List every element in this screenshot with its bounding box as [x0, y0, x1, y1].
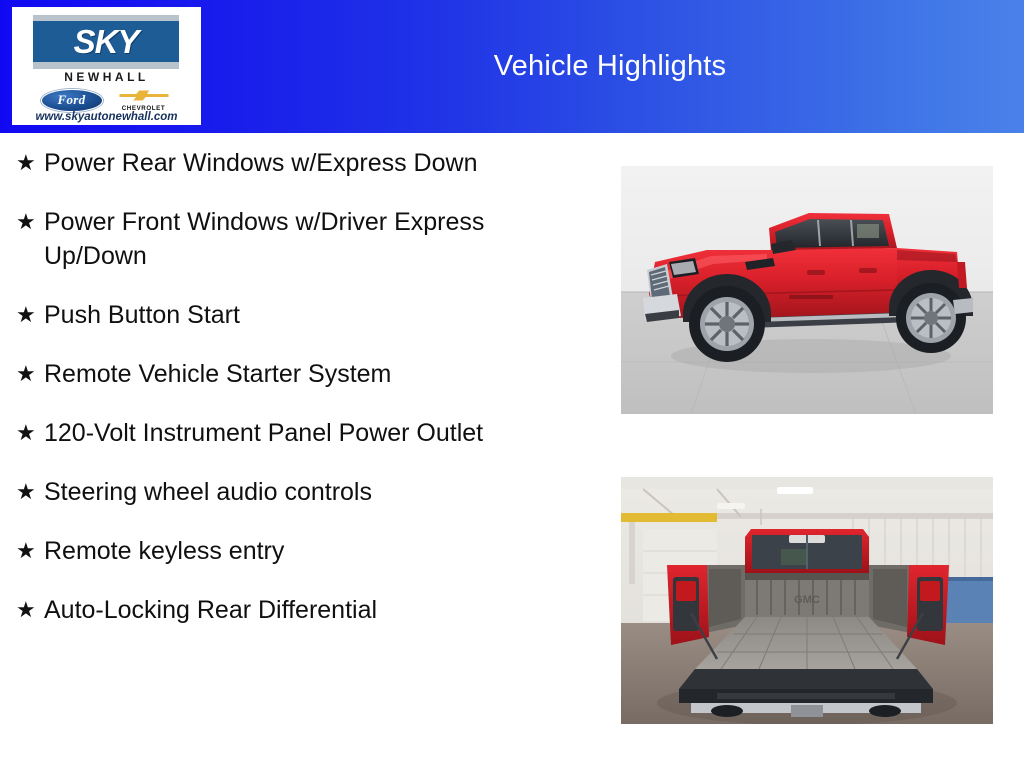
list-item-label: Power Rear Windows w/Express Down	[44, 146, 514, 180]
chevrolet-bowtie-icon	[117, 88, 171, 102]
list-item-label: Push Button Start	[44, 298, 514, 332]
star-icon: ★	[10, 146, 44, 180]
list-item: ★ Push Button Start	[10, 298, 610, 332]
star-icon: ★	[10, 205, 44, 239]
list-item-label: 120-Volt Instrument Panel Power Outlet	[44, 416, 514, 450]
list-item: ★ Power Front Windows w/Driver Express U…	[10, 205, 610, 273]
list-item: ★ Steering wheel audio controls	[10, 475, 610, 509]
vehicle-photo-exterior[interactable]	[621, 166, 993, 414]
star-icon: ★	[10, 298, 44, 332]
vehicle-highlights-list: ★ Power Rear Windows w/Express Down ★ Po…	[10, 146, 610, 652]
star-icon: ★	[10, 593, 44, 627]
slide-header: SKY NEWHALL Ford CHEVROLET www.skyautone…	[0, 0, 1024, 133]
list-item: ★ 120-Volt Instrument Panel Power Outlet	[10, 416, 610, 450]
star-icon: ★	[10, 475, 44, 509]
dealer-website-url[interactable]: www.skyautonewhall.com	[12, 111, 201, 123]
sky-logo-bottom-bar	[33, 62, 179, 69]
vehicle-photo-truck-bed[interactable]: GMC	[621, 477, 993, 724]
list-item-label: Power Front Windows w/Driver Express Up/…	[44, 205, 514, 273]
list-item: ★ Power Rear Windows w/Express Down	[10, 146, 610, 180]
franchise-brand-row: Ford CHEVROLET	[12, 88, 201, 112]
star-icon: ★	[10, 416, 44, 450]
list-item: ★ Remote keyless entry	[10, 534, 610, 568]
truck-bed-photo-graphic: GMC	[621, 477, 993, 724]
page-title-text: Vehicle Highlights	[494, 50, 727, 83]
sky-logo-mark: SKY	[33, 15, 179, 69]
page-title: Vehicle Highlights	[210, 0, 1024, 133]
sky-logo-text: SKY	[33, 21, 179, 63]
dealer-logo-badge[interactable]: SKY NEWHALL Ford CHEVROLET www.skyautone…	[12, 7, 201, 125]
star-icon: ★	[10, 534, 44, 568]
list-item-label: Remote Vehicle Starter System	[44, 357, 514, 391]
svg-text:GMC: GMC	[794, 594, 820, 606]
list-item-label: Auto-Locking Rear Differential	[44, 593, 514, 627]
slide-root: SKY NEWHALL Ford CHEVROLET www.skyautone…	[0, 0, 1024, 768]
exterior-photo-graphic	[621, 166, 993, 414]
dealer-location-label: NEWHALL	[12, 70, 201, 84]
chevrolet-logo-icon: CHEVROLET	[115, 88, 173, 112]
star-icon: ★	[10, 357, 44, 391]
list-item: ★ Auto-Locking Rear Differential	[10, 593, 610, 627]
list-item-label: Remote keyless entry	[44, 534, 514, 568]
list-item-label: Steering wheel audio controls	[44, 475, 514, 509]
list-item: ★ Remote Vehicle Starter System	[10, 357, 610, 391]
ford-logo-icon: Ford	[41, 89, 103, 112]
